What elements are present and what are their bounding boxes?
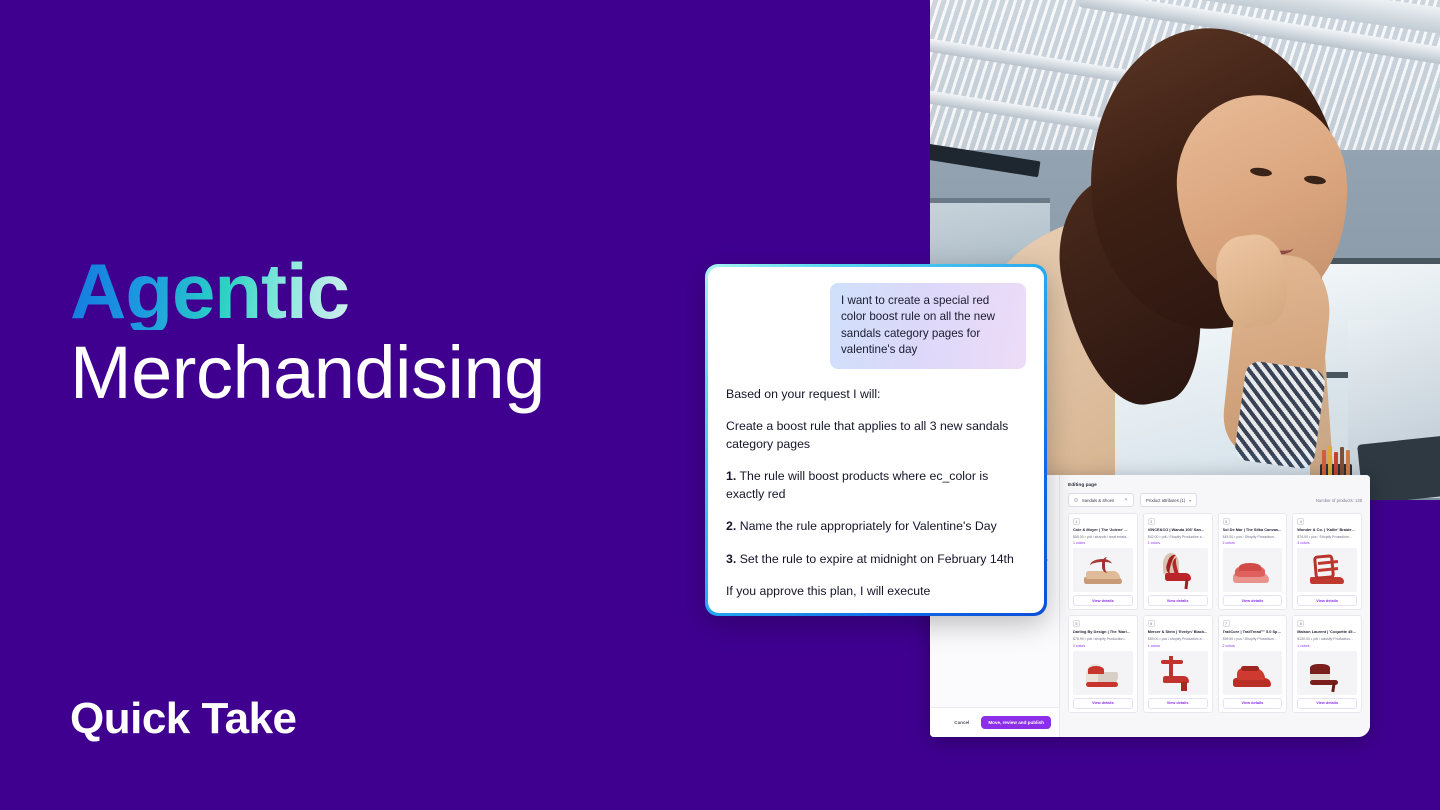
product-title: Darling By Design | The 'Marlow... bbox=[1073, 630, 1133, 635]
product-color-count[interactable]: 1 colors bbox=[1148, 541, 1208, 545]
product-image bbox=[1073, 548, 1133, 592]
view-details-link[interactable]: View details bbox=[1073, 595, 1133, 606]
product-color-count[interactable]: 1 colors bbox=[1297, 644, 1357, 648]
product-grid: 1 Cole & Moyer | The 'Jolene' ... $55.00… bbox=[1068, 513, 1362, 713]
product-index-badge: 8 bbox=[1297, 620, 1304, 627]
product-meta: $78.99 • pdt / shopify Production... bbox=[1073, 637, 1133, 642]
product-image bbox=[1073, 651, 1133, 695]
product-meta: $99.50 • pcs / Shopify Prosedium... bbox=[1223, 637, 1283, 642]
user-message-bubble: I want to create a special red color boo… bbox=[830, 283, 1026, 369]
view-details-link[interactable]: View details bbox=[1148, 595, 1208, 606]
product-count-label: Number of products: 128 bbox=[1316, 498, 1362, 503]
catalog-header: Editing page bbox=[1068, 483, 1362, 488]
product-title: Mercer & Stein | 'Evelyn' Black... bbox=[1148, 630, 1208, 635]
stiletto-heel-icon bbox=[1157, 551, 1199, 589]
filter-chip-category-label: Sandals & Shoes bbox=[1082, 498, 1114, 503]
product-image bbox=[1148, 548, 1208, 592]
headline: Agentic Merchandising bbox=[70, 252, 690, 413]
product-image bbox=[1223, 548, 1283, 592]
product-card[interactable]: 1 Cole & Moyer | The 'Jolene' ... $55.00… bbox=[1068, 513, 1138, 610]
view-details-link[interactable]: View details bbox=[1223, 595, 1283, 606]
product-image bbox=[1223, 651, 1283, 695]
chevron-down-icon[interactable]: ▾ bbox=[1189, 498, 1191, 503]
agent-step: 3. Set the rule to expire at midnight on… bbox=[726, 551, 1026, 568]
product-color-count[interactable]: 3 colors bbox=[1297, 541, 1357, 545]
filter-chip-attributes[interactable]: Product attributes (1) ▾ bbox=[1140, 493, 1197, 507]
product-title: Cole & Moyer | The 'Jolene' ... bbox=[1073, 528, 1133, 533]
product-card[interactable]: 2 VINCE&CO | Wanda 105' San... $42.00 • … bbox=[1143, 513, 1213, 610]
agent-step-number: 2. bbox=[726, 519, 736, 533]
close-icon[interactable]: ✕ bbox=[1124, 497, 1128, 503]
slide-canvas: Agentic Merchandising Quick Take Adjust … bbox=[0, 0, 1440, 810]
product-card[interactable]: 3 Sol De Mar | The Sitka Canvas... $49.0… bbox=[1218, 513, 1288, 610]
sandal-flat-icon bbox=[1082, 551, 1124, 589]
agent-chat-body: I want to create a special red color boo… bbox=[708, 267, 1044, 613]
product-title: Sol De Mar | The Sitka Canvas... bbox=[1223, 528, 1283, 533]
agent-step-text: Set the rule to expire at midnight on Fe… bbox=[740, 552, 1014, 566]
product-color-count[interactable]: 1 colors bbox=[1148, 644, 1208, 648]
move-review-publish-button[interactable]: Move, review and publish bbox=[981, 716, 1051, 729]
product-card[interactable]: 5 Darling By Design | The 'Marlow... $78… bbox=[1068, 615, 1138, 712]
catalog-pane: Editing page Sandals & Shoes ✕ Product a… bbox=[1060, 475, 1370, 737]
product-meta: $49.00 • pcs / Shopify Prosedium... bbox=[1223, 535, 1283, 540]
product-title: VINCE&CO | Wanda 105' San... bbox=[1148, 528, 1208, 533]
agent-step: 1. The rule will boost products where ec… bbox=[726, 468, 1026, 503]
product-card[interactable]: 7 TrailCore | TrailTread™ 5.0 Sport... $… bbox=[1218, 615, 1288, 712]
catalog-title: Editing page bbox=[1068, 483, 1097, 488]
product-card[interactable]: 4 Wonder & Co. | 'Kallie' Braided... $74… bbox=[1292, 513, 1362, 610]
drag-handle-icon bbox=[1074, 498, 1078, 502]
agent-closing-line: If you approve this plan, I will execute bbox=[726, 583, 1026, 600]
agent-step-text: The rule will boost products where ec_co… bbox=[726, 469, 988, 500]
agent-chat-card: I want to create a special red color boo… bbox=[705, 264, 1047, 616]
agent-step-number: 1. bbox=[726, 469, 736, 483]
espadrille-icon bbox=[1231, 551, 1273, 589]
product-meta: $59.00 • pcs / shopify Productive a... bbox=[1148, 637, 1208, 642]
catalog-filter-bar: Sandals & Shoes ✕ Product attributes (1)… bbox=[1068, 493, 1362, 507]
product-title: TrailCore | TrailTread™ 5.0 Sport... bbox=[1223, 630, 1283, 635]
agent-step-number: 3. bbox=[726, 552, 736, 566]
product-color-count[interactable]: 2 colors bbox=[1223, 644, 1283, 648]
gladiator-sandal-icon bbox=[1306, 551, 1348, 589]
product-image bbox=[1297, 548, 1357, 592]
product-title: Wonder & Co. | 'Kallie' Braided... bbox=[1297, 528, 1357, 533]
product-meta: $74.00 • pcs / Shopify Prosedium... bbox=[1297, 535, 1357, 540]
product-title: Maison Laurent | 'Coquette 45' ... bbox=[1297, 630, 1357, 635]
product-color-count[interactable]: 2 colors bbox=[1073, 644, 1133, 648]
product-index-badge: 7 bbox=[1223, 620, 1230, 627]
product-index-badge: 6 bbox=[1148, 620, 1155, 627]
t-strap-heel-icon bbox=[1157, 654, 1199, 692]
product-index-badge: 2 bbox=[1148, 518, 1155, 525]
product-index-badge: 1 bbox=[1073, 518, 1080, 525]
sport-sandal-icon bbox=[1231, 654, 1273, 692]
product-image bbox=[1148, 651, 1208, 695]
mule-heel-icon bbox=[1306, 654, 1348, 692]
product-color-count[interactable]: 1 colors bbox=[1073, 541, 1133, 545]
agent-step-text: Name the rule appropriately for Valentin… bbox=[740, 519, 997, 533]
product-index-badge: 4 bbox=[1297, 518, 1304, 525]
quick-take-label: Quick Take bbox=[70, 694, 297, 744]
view-details-link[interactable]: View details bbox=[1148, 698, 1208, 709]
product-meta: $55.00 • pdt / strands / treat.errata... bbox=[1073, 535, 1133, 540]
view-details-link[interactable]: View details bbox=[1223, 698, 1283, 709]
product-card[interactable]: 8 Maison Laurent | 'Coquette 45' ... $13… bbox=[1292, 615, 1362, 712]
product-meta: $42.00 • pdt / Shopify Productive a... bbox=[1148, 535, 1208, 540]
wedge-sandal-icon bbox=[1082, 654, 1124, 692]
view-details-link[interactable]: View details bbox=[1297, 595, 1357, 606]
panel-action-bar: Cancel Move, review and publish bbox=[930, 707, 1059, 737]
product-card[interactable]: 6 Mercer & Stein | 'Evelyn' Black... $59… bbox=[1143, 615, 1213, 712]
filter-chip-attributes-label: Product attributes (1) bbox=[1146, 498, 1185, 503]
product-index-badge: 3 bbox=[1223, 518, 1230, 525]
filter-chip-category[interactable]: Sandals & Shoes ✕ bbox=[1068, 493, 1134, 507]
person-sleeve-cuff bbox=[1233, 360, 1326, 470]
agent-intro-line: Based on your request I will: bbox=[726, 386, 1026, 403]
cancel-button[interactable]: Cancel bbox=[949, 717, 974, 728]
product-index-badge: 5 bbox=[1073, 620, 1080, 627]
agent-step: 2. Name the rule appropriately for Valen… bbox=[726, 518, 1026, 535]
headline-line-1: Agentic bbox=[70, 252, 349, 330]
product-meta: $130.00 • pdt / classify Production... bbox=[1297, 637, 1357, 642]
product-image bbox=[1297, 651, 1357, 695]
view-details-link[interactable]: View details bbox=[1073, 698, 1133, 709]
headline-line-2: Merchandising bbox=[70, 332, 690, 413]
product-color-count[interactable]: 2 colors bbox=[1223, 541, 1283, 545]
view-details-link[interactable]: View details bbox=[1297, 698, 1357, 709]
agent-summary-line: Create a boost rule that applies to all … bbox=[726, 418, 1026, 453]
